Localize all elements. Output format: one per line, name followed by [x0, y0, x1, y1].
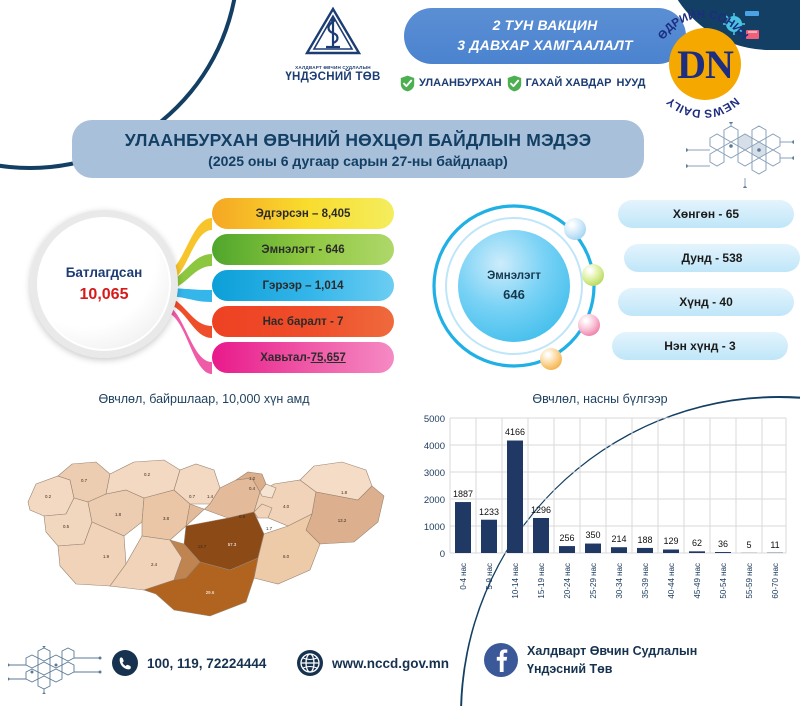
svg-text:0.7: 0.7 [189, 494, 196, 499]
footer-fb-line-1: Халдварт Өвчин Судлалын [527, 642, 697, 660]
severity-item-mild: Хөнгөн - 65 [618, 200, 794, 228]
bar-1 [481, 520, 497, 553]
svg-text:214: 214 [611, 534, 626, 544]
confirmed-value: 10,065 [80, 286, 129, 304]
severity-node-severe [578, 314, 600, 336]
breakdown-value-underlined: 75,657 [311, 352, 346, 364]
dn-monogram: DN [669, 28, 741, 100]
svg-text:0: 0 [440, 549, 445, 560]
svg-text:1.8: 1.8 [115, 512, 122, 517]
bar-2 [507, 441, 523, 553]
map-panel: Өвчлөл, байршлаар, 10,000 хүн амд [6, 392, 402, 622]
chart-y-axis-labels: 5000 4000 3000 2000 1000 0 [424, 414, 445, 560]
bar-0 [455, 502, 471, 553]
footer: 100, 119, 72224444 www.nccd.gov.mn Халдв… [0, 632, 800, 706]
svg-text:55-59 нас: 55-59 нас [745, 563, 754, 599]
breakdown-label: Нас баралт - 7 [263, 316, 344, 328]
svg-text:0.9: 0.9 [239, 514, 246, 519]
svg-text:1.7: 1.7 [266, 526, 273, 531]
bar-10 [715, 552, 731, 553]
footer-phone[interactable]: 100, 119, 72224444 [112, 650, 266, 676]
breakdown-item-at-home: Гэрээр – 1,014 [212, 270, 394, 301]
svg-text:29.6: 29.6 [206, 590, 215, 595]
hexagon-molecule-decoration-icon [686, 122, 794, 188]
hospital-core: Эмнэлэгт 646 [458, 230, 570, 342]
hospital-orbit: Эмнэлэгт 646 [430, 202, 598, 370]
banner-line-2: 3 ДАВХАР ХАМГААЛАЛТ [404, 37, 686, 53]
svg-text:15-19 нас: 15-19 нас [537, 563, 546, 599]
shield-label: НУУД [617, 77, 646, 89]
svg-text:1.2: 1.2 [249, 476, 256, 481]
confirmed-label: Батлагдсан [66, 265, 143, 280]
shield-item-measles: УЛААНБУРХАН [400, 75, 502, 92]
svg-text:4166: 4166 [505, 427, 525, 437]
svg-text:57.3: 57.3 [228, 542, 237, 547]
mongolia-choropleth-map: 0.2 0.7 0.5 1.8 0.2 1.9 2.4 3.8 0.7 1.4 … [14, 418, 394, 618]
shield-item-mumps: ГАХАЙ ХАВДАР [507, 75, 612, 92]
svg-text:3000: 3000 [424, 468, 445, 479]
breakdown-label: Эмнэлэгт - 646 [261, 244, 344, 256]
phone-icon [112, 650, 138, 676]
shield-label: УЛААНБУРХАН [419, 77, 502, 89]
svg-text:0.7: 0.7 [81, 478, 88, 483]
severity-item-severe: Хүнд - 40 [618, 288, 794, 316]
confirmed-total-circle: Батлагдсан 10,065 [30, 210, 178, 358]
hospital-value: 646 [503, 287, 525, 302]
footer-phone-text: 100, 119, 72224444 [147, 656, 266, 671]
svg-text:5000: 5000 [424, 414, 445, 425]
facebook-icon [484, 643, 518, 677]
page-title: УЛААНБУРХАН ӨВЧНИЙ НӨХЦӨЛ БАЙДЛЫН МЭДЭЭ … [72, 120, 644, 178]
severity-label: Нэн хүнд - 3 [664, 339, 735, 353]
svg-text:4.0: 4.0 [283, 504, 290, 509]
chart-svg: 5000 4000 3000 2000 1000 0 [404, 408, 796, 623]
footer-facebook-text: Халдварт Өвчин Судлалын Үндэсний Төв [527, 642, 697, 678]
footer-facebook[interactable]: Халдварт Өвчин Судлалын Үндэсний Төв [484, 642, 697, 678]
severity-pill-list: Хөнгөн - 65 Дунд - 538 Хүнд - 40 Нэн хүн… [608, 196, 800, 376]
org-logo: ХАЛДВАРТ ӨВЧИН СУДЛАЛЫН ҮНДЭСНИЙ ТӨВ [278, 6, 388, 83]
footer-website-text: www.nccd.gov.mn [332, 656, 449, 671]
severity-label: Хүнд - 40 [679, 295, 733, 309]
svg-text:3.8: 3.8 [163, 516, 170, 521]
header: ХАЛДВАРТ ӨВЧИН СУДЛАЛЫН ҮНДЭСНИЙ ТӨВ 2 Т… [0, 0, 800, 108]
severity-node-critical [540, 348, 562, 370]
svg-text:13.2: 13.2 [338, 518, 347, 523]
caduceus-triangle-icon [304, 6, 362, 58]
svg-text:0.5: 0.5 [63, 524, 70, 529]
svg-text:30-34 нас: 30-34 нас [615, 563, 624, 599]
breakdown-label: Эдгэрсэн – 8,405 [256, 208, 351, 220]
hospital-label: Эмнэлэгт [487, 270, 541, 282]
chart-vertical-gridlines [450, 418, 786, 553]
svg-text:20-24 нас: 20-24 нас [563, 563, 572, 599]
org-sub-name: ХАЛДВАРТ ӨВЧИН СУДЛАЛЫН [278, 65, 388, 70]
svg-text:129: 129 [663, 536, 678, 546]
bar-6 [611, 547, 627, 553]
severity-node-mild [564, 218, 586, 240]
severity-item-critical: Нэн хүнд - 3 [612, 332, 788, 360]
svg-text:10-14 нас: 10-14 нас [511, 563, 520, 599]
svg-text:45-49 нас: 45-49 нас [693, 563, 702, 599]
svg-text:350: 350 [585, 530, 600, 540]
bar-8 [663, 550, 679, 553]
severity-node-moderate [582, 264, 604, 286]
svg-text:0-4 нас: 0-4 нас [459, 563, 468, 590]
svg-text:1000: 1000 [424, 522, 445, 533]
severity-item-moderate: Дунд - 538 [624, 244, 800, 272]
breakdown-label: Гэрээр – 1,014 [262, 280, 343, 292]
svg-text:36: 36 [718, 539, 728, 549]
svg-text:11: 11 [770, 540, 779, 550]
svg-text:6.0: 6.0 [283, 554, 290, 559]
svg-text:188: 188 [637, 535, 652, 545]
svg-text:1.8: 1.8 [341, 490, 348, 495]
hospitalized-severity-breakdown: Эмнэлэгт 646 Хөнгөн - 65 Дунд - 538 Хүнд… [424, 196, 800, 376]
svg-text:25-29 нас: 25-29 нас [589, 563, 598, 599]
svg-text:1.4: 1.4 [207, 494, 214, 499]
bar-4 [559, 546, 575, 553]
footer-website[interactable]: www.nccd.gov.mn [297, 650, 449, 676]
svg-text:1233: 1233 [479, 507, 499, 517]
page-title-line-1: УЛААНБУРХАН ӨВЧНИЙ НӨХЦӨЛ БАЙДЛЫН МЭДЭЭ [125, 130, 592, 151]
bar-3 [533, 518, 549, 553]
hexagon-footer-decoration-icon [8, 646, 104, 694]
breakdown-item-contacts: Хавьтал- 75,657 [212, 342, 394, 373]
svg-text:40-44 нас: 40-44 нас [667, 563, 676, 599]
vaccine-banner: 2 ТУН ВАКЦИН 3 ДАВХАР ХАМГААЛАЛТ [404, 8, 686, 64]
globe-icon [297, 650, 323, 676]
svg-text:2.4: 2.4 [151, 562, 158, 567]
chart-title: Өвчлөл, насны бүлгээр [404, 392, 796, 406]
infographic-root: ХАЛДВАРТ ӨВЧИН СУДЛАЛЫН ҮНДЭСНИЙ ТӨВ 2 Т… [0, 0, 800, 706]
svg-text:1.9: 1.9 [103, 554, 110, 559]
breakdown-item-hospitalized: Эмнэлэгт - 646 [212, 234, 394, 265]
svg-text:0.2: 0.2 [144, 472, 151, 477]
breakdown-ribbon-list: Эдгэрсэн – 8,405 Эмнэлэгт - 646 Гэрээр –… [160, 196, 394, 376]
svg-text:2000: 2000 [424, 495, 445, 506]
svg-text:60-70 нас: 60-70 нас [771, 563, 780, 599]
breakdown-item-deaths: Нас баралт - 7 [212, 306, 394, 337]
svg-text:1296: 1296 [531, 505, 551, 515]
footer-fb-line-2: Үндэсний Төв [527, 660, 697, 678]
shield-check-icon [507, 75, 522, 92]
svg-text:50-54 нас: 50-54 нас [719, 563, 728, 599]
svg-text:256: 256 [559, 533, 574, 543]
bar-7 [637, 548, 653, 553]
confirmed-cases-breakdown: Батлагдсан 10,065 Эдгэрсэн – 8,405 Эмнэл… [14, 196, 394, 376]
chart-x-axis-labels: 0-4 нас 5-9 нас 10-14 нас 15-19 нас 20-2… [459, 563, 780, 599]
shield-label: ГАХАЙ ХАВДАР [526, 77, 612, 89]
page-title-line-2: (2025 оны 6 дугаар сарын 27-ны байдлаар) [208, 153, 508, 169]
map-title: Өвчлөл, байршлаар, 10,000 хүн амд [6, 392, 402, 406]
bar-5 [585, 544, 601, 553]
svg-text:62: 62 [692, 538, 702, 548]
banner-line-1: 2 ТУН ВАКЦИН [404, 17, 686, 33]
age-group-bar-chart: Өвчлөл, насны бүлгээр [404, 392, 796, 622]
breakdown-item-recovered: Эдгэрсэн – 8,405 [212, 198, 394, 229]
bar-9 [689, 551, 705, 553]
svg-text:35-39 нас: 35-39 нас [641, 563, 650, 599]
svg-text:0.4: 0.4 [249, 486, 256, 491]
svg-text:13.7: 13.7 [198, 544, 207, 549]
svg-text:5: 5 [746, 540, 751, 550]
shield-check-icon [400, 75, 415, 92]
svg-text:1887: 1887 [453, 489, 473, 499]
shield-item-third: НУУД [617, 77, 646, 89]
dn-newspaper-logo: ӨДРИЙН СОНИН NEWS DAILY DN [645, 6, 761, 122]
svg-text:5-9 нас: 5-9 нас [485, 563, 494, 590]
svg-text:4000: 4000 [424, 441, 445, 452]
breakdown-label: Хавьтал- [260, 352, 310, 364]
org-main-name: ҮНДЭСНИЙ ТӨВ [278, 71, 388, 83]
severity-label: Хөнгөн - 65 [673, 207, 739, 221]
svg-text:0.2: 0.2 [45, 494, 52, 499]
severity-label: Дунд - 538 [682, 251, 743, 265]
